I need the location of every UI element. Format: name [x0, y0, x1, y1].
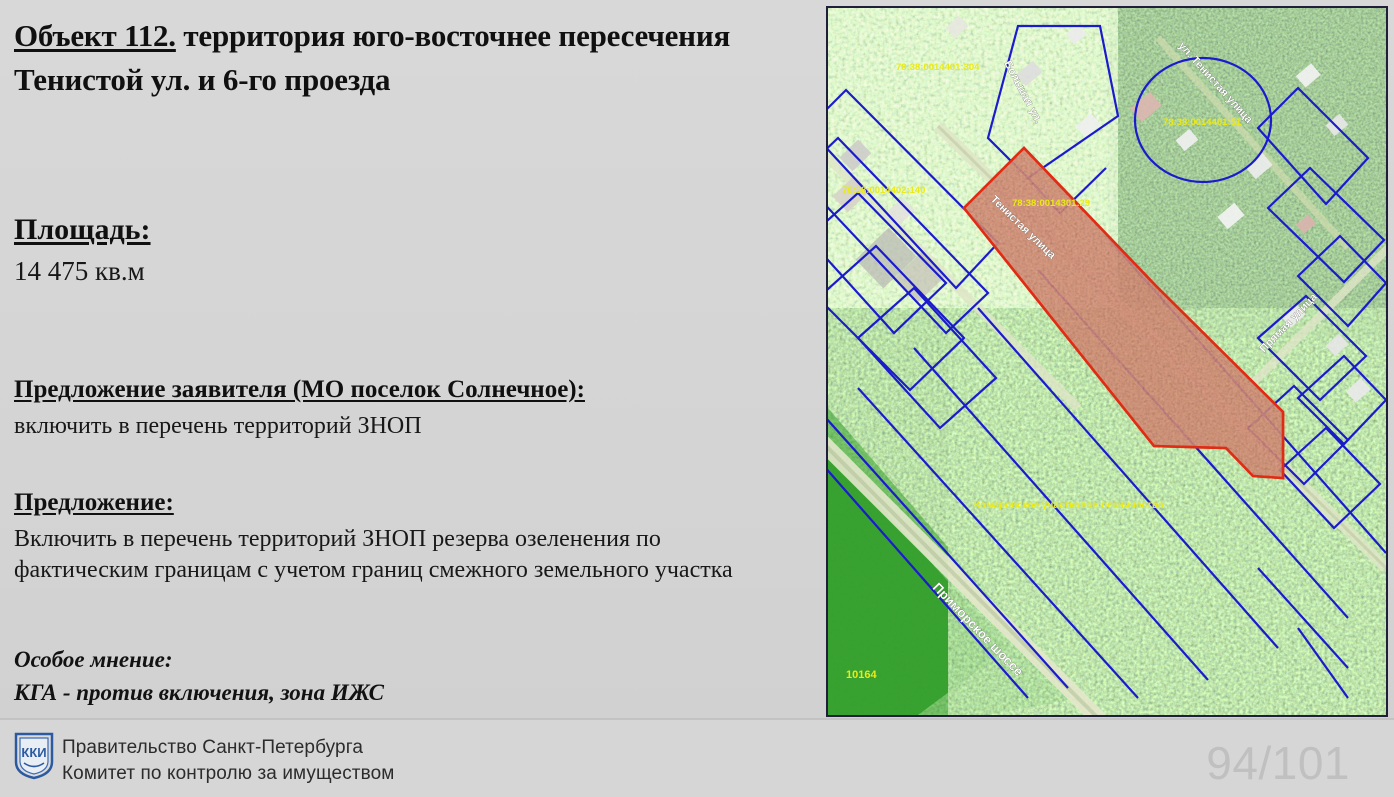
proposal-block: Предложение: Включить в перечень террито… — [14, 487, 759, 587]
area-heading: Площадь: — [14, 210, 151, 249]
slide-root: Объект 112. территория юго-восточнее пер… — [0, 0, 1394, 795]
page-title: Объект 112. территория юго-восточнее пер… — [14, 14, 804, 102]
special-opinion-block: Особое мнение: КГА - против включения, з… — [14, 644, 384, 708]
footer-bar: ККИ Правительство Санкт-Петербурга Комит… — [0, 718, 1394, 797]
text-column: Объект 112. территория юго-восточнее пер… — [14, 14, 804, 714]
area-value: 14 475 кв.м — [14, 255, 151, 289]
applicant-proposal-block: Предложение заявителя (МО поселок Солнеч… — [14, 374, 585, 442]
area-block: Площадь: 14 475 кв.м — [14, 210, 151, 289]
page-number: 94/101 — [1206, 736, 1350, 790]
special-opinion-text: КГА - против включения, зона ИЖС — [14, 677, 384, 708]
footer-org-line-2: Комитет по контролю за имуществом — [62, 761, 394, 787]
applicant-proposal-heading: Предложение заявителя (МО поселок Солнеч… — [14, 374, 585, 407]
kki-logo-text: ККИ — [21, 745, 46, 760]
footer-org-line-1: Правительство Санкт-Петербурга — [62, 735, 394, 761]
special-opinion-heading: Особое мнение: — [14, 644, 384, 675]
aerial-map-panel[interactable]: 78:38:0014401:304 78:38:0014402:140 78:3… — [826, 6, 1388, 717]
footer-organization: Правительство Санкт-Петербурга Комитет п… — [62, 735, 394, 787]
applicant-proposal-text: включить в перечень территорий ЗНОП — [14, 411, 585, 443]
proposal-text: Включить в перечень территорий ЗНОП резе… — [14, 524, 759, 588]
aerial-map-image: 78:38:0014401:304 78:38:0014402:140 78:3… — [828, 8, 1386, 715]
kki-logo-icon: ККИ — [14, 732, 54, 780]
page-title-object-number: Объект 112. — [14, 18, 176, 53]
proposal-heading: Предложение: — [14, 487, 759, 520]
